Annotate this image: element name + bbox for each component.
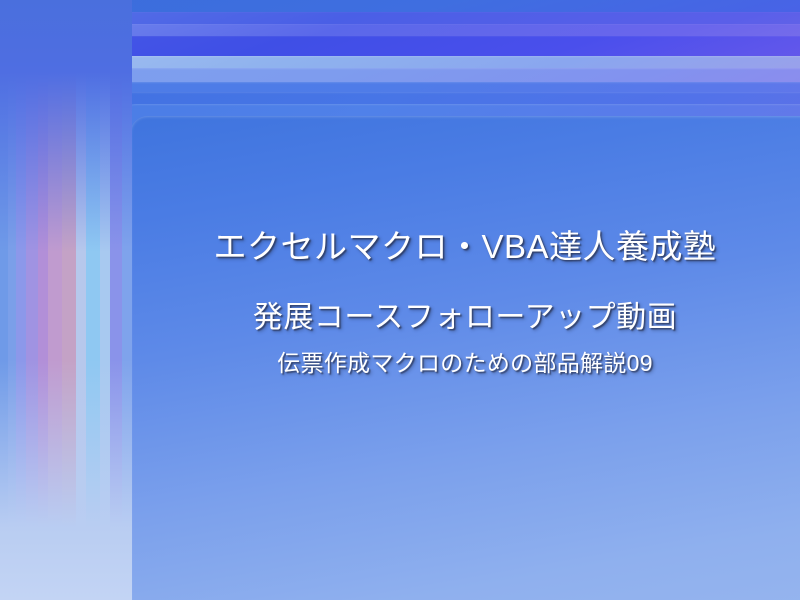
slide-subtitle: 伝票作成マクロのための部品解説09	[130, 344, 800, 378]
slide-canvas: エクセルマクロ・VBA達人養成塾 発展コースフォローアップ動画 伝票作成マクロの…	[0, 0, 800, 600]
slide-title-line-1: エクセルマクロ・VBA達人養成塾	[130, 220, 800, 268]
title-block: エクセルマクロ・VBA達人養成塾 発展コースフォローアップ動画 伝票作成マクロの…	[130, 116, 800, 600]
slide-title-line-2: 発展コースフォローアップ動画	[130, 292, 800, 336]
